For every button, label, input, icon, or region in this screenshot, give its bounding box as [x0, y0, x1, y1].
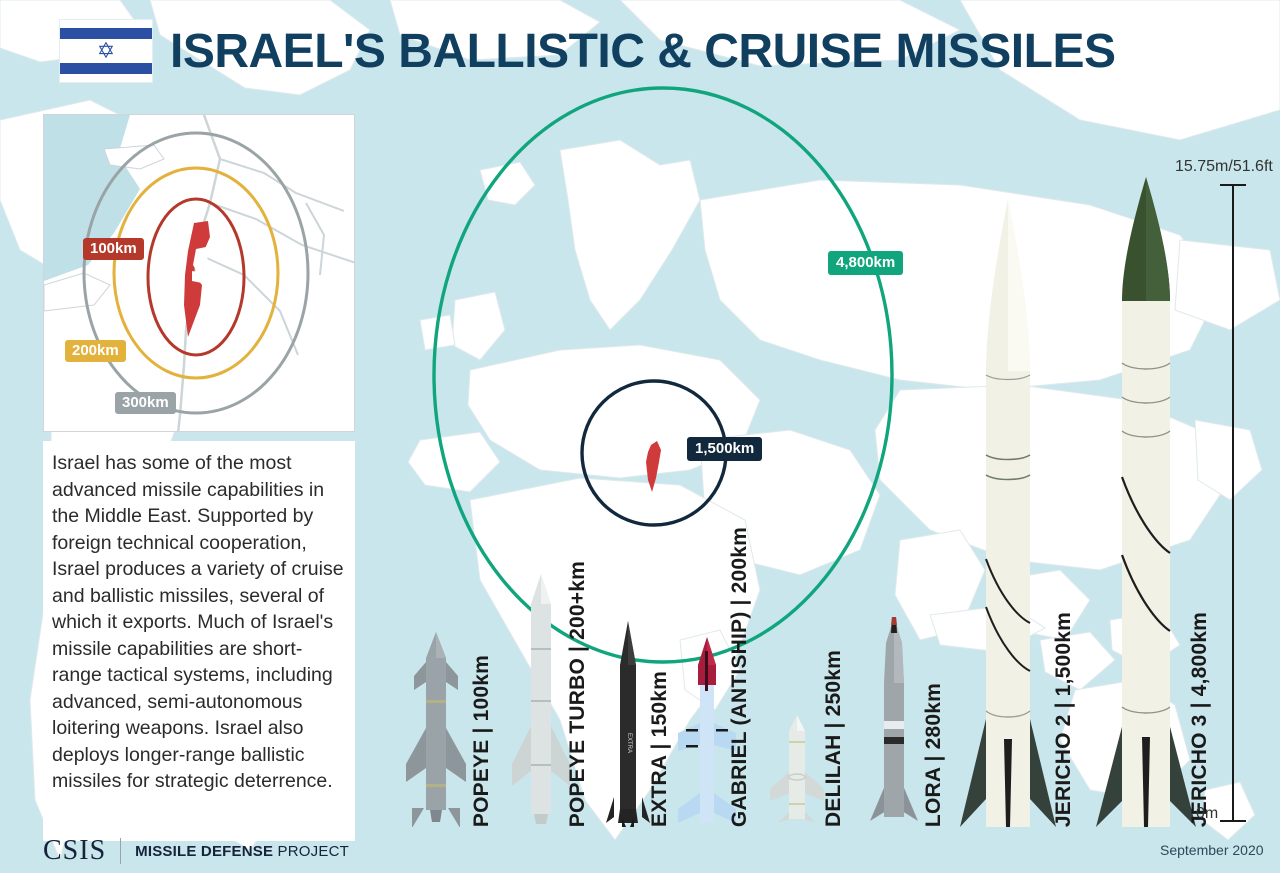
csis-logo: CSIS MISSILE DEFENSE PROJECT [43, 835, 349, 867]
header: ✡ ISRAEL'S BALLISTIC & CRUISE MISSILES [60, 20, 1116, 82]
page-title: ISRAEL'S BALLISTIC & CRUISE MISSILES [170, 24, 1116, 79]
missile-label-lora: LORA | 280km [922, 683, 946, 827]
inset-label-200km: 200km [65, 340, 126, 362]
missile-label-extra: EXTRA | 150km [648, 671, 672, 827]
scale-label-max: 15.75m/51.6ft [1175, 158, 1273, 176]
missile-label-jericho-3: JERICHO 3 | 4,800km [1188, 612, 1212, 827]
mdp-bold-text: MISSILE DEFENSE [135, 843, 273, 860]
star-of-david-icon: ✡ [97, 40, 115, 62]
logo-divider [120, 838, 121, 864]
inset-map-israel-ranges: 100km 200km 300km [43, 114, 355, 432]
csis-wordmark: CSIS [43, 835, 106, 867]
missile-label-delilah: DELILAH | 250km [822, 650, 846, 827]
missile-jericho-2 [960, 199, 1056, 827]
flag-stripe-bottom [60, 63, 152, 74]
scale-tick-top [1220, 184, 1246, 186]
missile-lora [866, 617, 922, 827]
missile-popeye-turbo [510, 574, 572, 827]
inset-map-svg [44, 115, 355, 432]
missile-label-popeye-turbo: POPEYE TURBO | 200+km [566, 561, 590, 827]
israel-flag-icon: ✡ [60, 20, 152, 82]
missile-extra: EXTRA [606, 621, 650, 827]
infographic-root: 4,800km 1,500km ✡ ISRAEL'S BALLISTIC & C… [0, 0, 1280, 873]
missile-label-popeye: POPEYE | 100km [470, 655, 494, 827]
scale-tick-bottom [1220, 820, 1246, 822]
inset-label-100km: 100km [83, 238, 144, 260]
description-panel: Israel has some of the most advanced mis… [43, 441, 355, 841]
height-scale-axis [1232, 184, 1234, 822]
mdp-light-text: PROJECT [273, 843, 349, 860]
missile-defense-project-wordmark: MISSILE DEFENSE PROJECT [135, 843, 349, 860]
scale-label-zero: 0m [1196, 805, 1218, 823]
missile-label-gabriel: GABRIEL (ANTISHIP) | 200km [728, 527, 752, 827]
svg-text:EXTRA: EXTRA [626, 733, 632, 753]
missile-delilah [768, 715, 826, 827]
publication-date: September 2020 [1160, 842, 1264, 858]
inset-label-300km: 300km [115, 392, 176, 414]
description-text: Israel has some of the most advanced mis… [52, 450, 348, 795]
missile-jericho-3 [1096, 177, 1196, 827]
missile-label-jericho-2: JERICHO 2 | 1,500km [1052, 612, 1076, 827]
missile-popeye [404, 632, 468, 827]
